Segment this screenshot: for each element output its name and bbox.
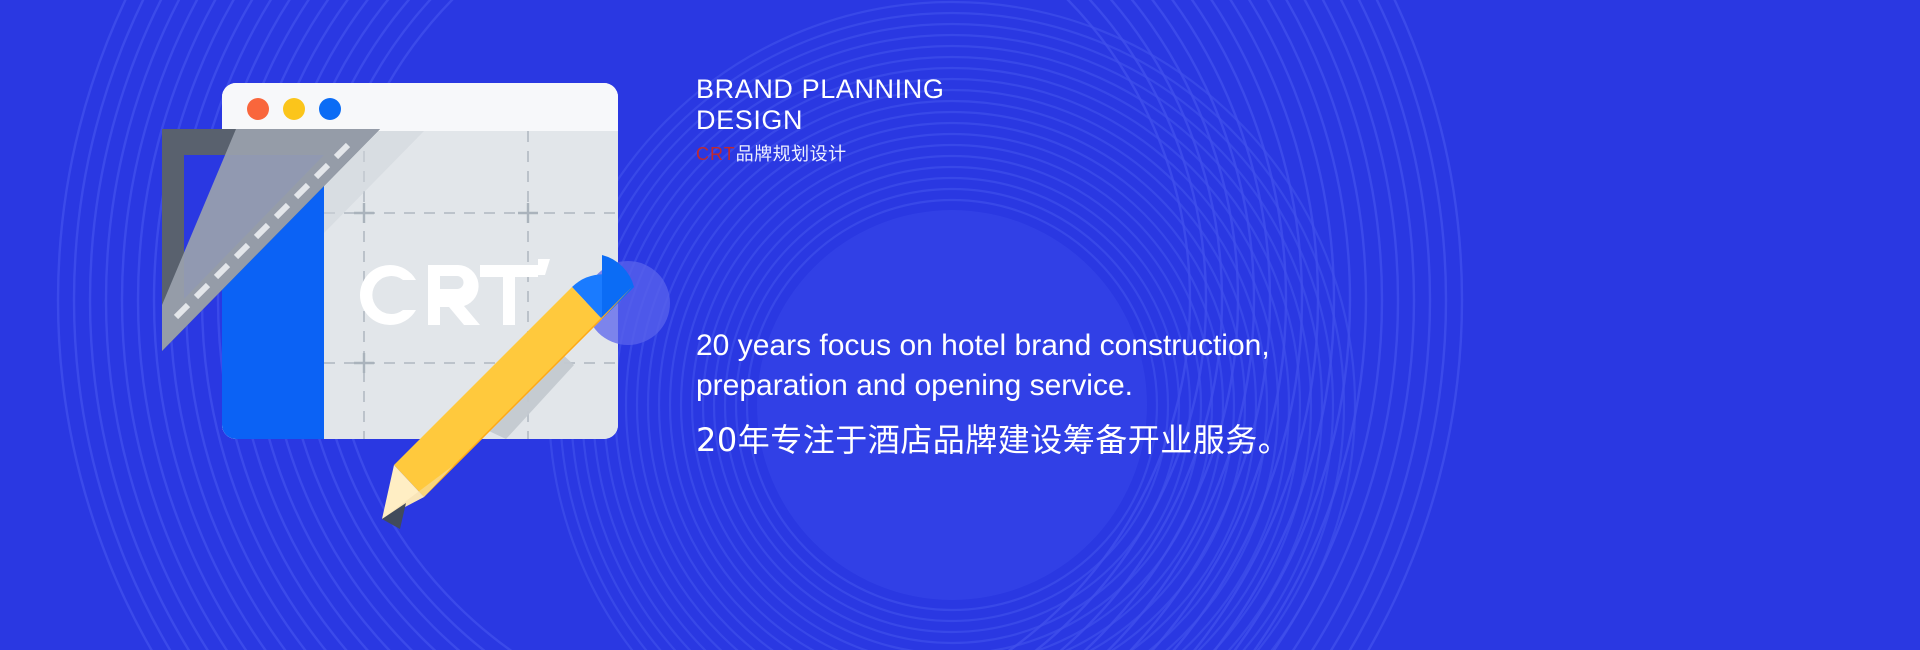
brand-design-illustration [236, 83, 608, 453]
headline-block: BRAND PLANNING DESIGN CRT品牌规划设计 [696, 74, 944, 165]
body-chinese-line: 20年专注于酒店品牌建设筹备开业服务。 [696, 418, 1396, 462]
subtitle-brand: CRT [696, 144, 736, 164]
brand-planning-banner: BRAND PLANNING DESIGN CRT品牌规划设计 20 years… [0, 0, 1920, 650]
body-english-line-2: preparation and opening service. [696, 366, 1396, 406]
body-copy-block: 20 years focus on hotel brand constructi… [696, 326, 1396, 462]
subtitle-text: 品牌规划设计 [736, 144, 847, 164]
close-dot-icon[interactable] [247, 98, 269, 120]
maximize-dot-icon[interactable] [319, 98, 341, 120]
minimize-dot-icon[interactable] [283, 98, 305, 120]
subtitle-line: CRT品牌规划设计 [696, 143, 944, 165]
body-english-line-1: 20 years focus on hotel brand constructi… [696, 326, 1396, 366]
headline-line-2: DESIGN [696, 105, 944, 136]
banner-copy-column: BRAND PLANNING DESIGN CRT品牌规划设计 20 years… [696, 0, 1796, 650]
headline-line-1: BRAND PLANNING [696, 74, 944, 105]
window-titlebar [222, 83, 618, 131]
